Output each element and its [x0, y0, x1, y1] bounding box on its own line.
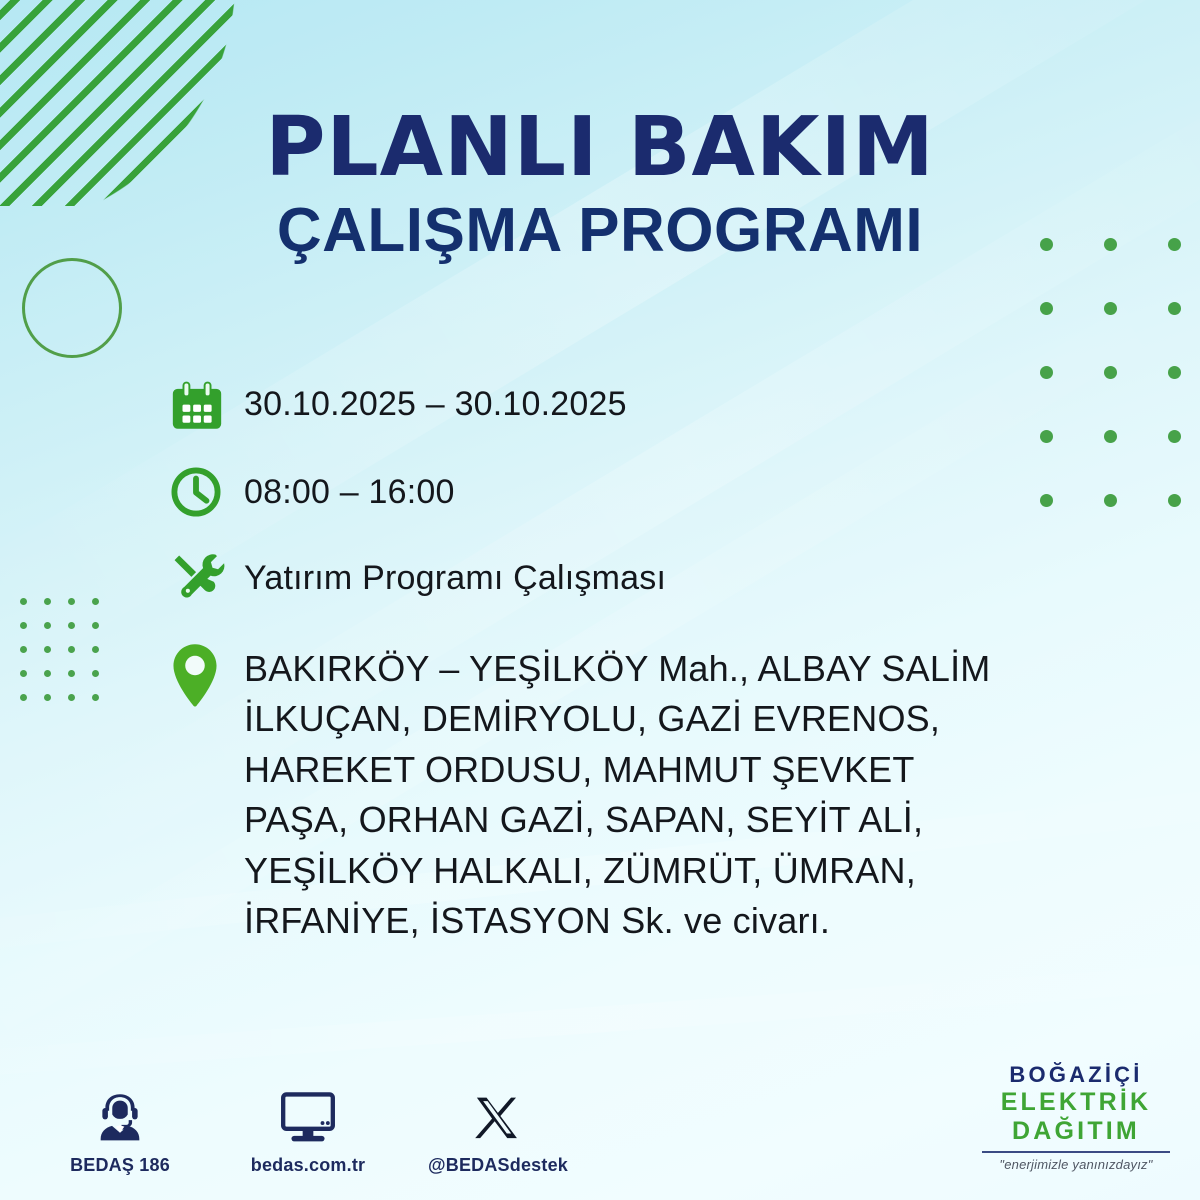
- circle-outline-decoration: [22, 258, 122, 358]
- detail-row-location: BAKIRKÖY – YEŞİLKÖY Mah., ALBAY SALİM İL…: [168, 640, 1128, 946]
- detail-row-work-type: Yatırım Programı Çalışması: [168, 548, 1128, 606]
- detail-time-text: 08:00 – 16:00: [244, 464, 455, 515]
- tools-icon: [168, 548, 244, 606]
- contact-item-phone[interactable]: BEDAŞ 186: [52, 1084, 188, 1176]
- detail-row-date: 30.10.2025 – 30.10.2025: [168, 378, 1128, 436]
- title-line-primary: PLANLI BAKIM: [0, 106, 1200, 190]
- contact-footer: BEDAŞ 186 bedas.com.tr @BEDASdestek: [52, 1084, 564, 1176]
- call-center-agent-icon: [52, 1084, 188, 1146]
- contact-item-website[interactable]: bedas.com.tr: [240, 1084, 376, 1176]
- x-twitter-icon: [428, 1084, 564, 1146]
- brand-logo: BOĞAZİÇİ ELEKTRİK DAĞITIM "enerjimizle y…: [976, 1062, 1176, 1172]
- brand-divider: [982, 1151, 1170, 1153]
- brand-line-elektrik: ELEKTRİK: [976, 1088, 1176, 1117]
- outage-details: 30.10.2025 – 30.10.2025 08:00 – 16:00: [168, 378, 1128, 946]
- contact-label-social: @BEDASdestek: [428, 1155, 564, 1176]
- contact-label-website: bedas.com.tr: [240, 1155, 376, 1176]
- calendar-icon: [168, 378, 244, 436]
- detail-work-type-text: Yatırım Programı Çalışması: [244, 548, 666, 601]
- clock-icon: [168, 464, 244, 520]
- poster-canvas: PLANLI BAKIM ÇALIŞMA PROGRAMI: [0, 0, 1200, 1200]
- contact-label-phone: BEDAŞ 186: [52, 1155, 188, 1176]
- detail-row-time: 08:00 – 16:00: [168, 464, 1128, 520]
- detail-location-text: BAKIRKÖY – YEŞİLKÖY Mah., ALBAY SALİM İL…: [244, 640, 1004, 946]
- brand-line-bogazici: BOĞAZİÇİ: [976, 1062, 1176, 1088]
- brand-tagline: "enerjimizle yanınızdayız": [976, 1157, 1176, 1172]
- dot-grid-left-decoration: [20, 598, 116, 718]
- contact-item-social[interactable]: @BEDASdestek: [428, 1084, 564, 1176]
- monitor-icon: [240, 1084, 376, 1146]
- page-title: PLANLI BAKIM ÇALIŞMA PROGRAMI: [0, 106, 1200, 265]
- title-line-secondary: ÇALIŞMA PROGRAMI: [0, 196, 1200, 265]
- brand-line-dagitim: DAĞITIM: [976, 1117, 1176, 1146]
- location-pin-icon: [168, 640, 244, 710]
- detail-date-text: 30.10.2025 – 30.10.2025: [244, 378, 627, 427]
